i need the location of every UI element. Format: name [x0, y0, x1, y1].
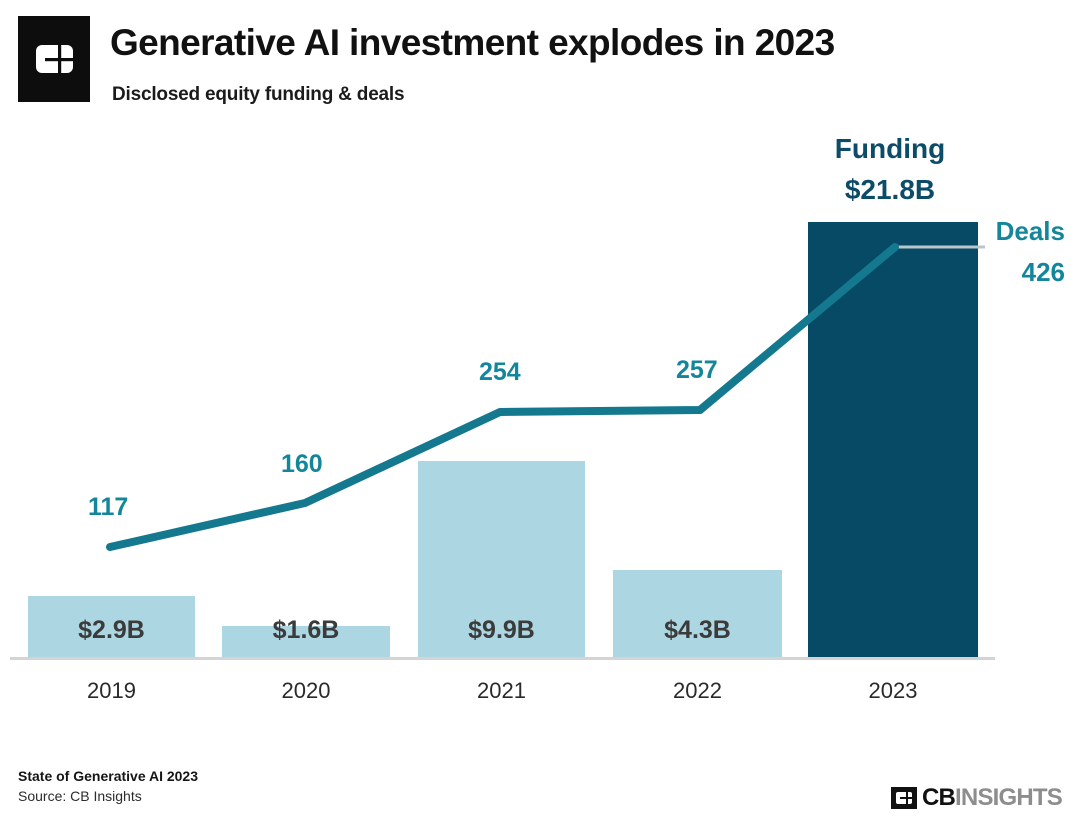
deals-annotation: Deals 426 [900, 211, 1065, 293]
deals-annotation-label: Deals [996, 216, 1065, 246]
bar-label-2021: $9.9B [418, 616, 585, 645]
bar-label-2019: $2.9B [28, 616, 195, 645]
deals-label-2020: 160 [281, 450, 323, 479]
bar-label-2020: $1.6B [222, 616, 390, 645]
x-tick-2019: 2019 [28, 678, 195, 704]
x-tick-2023: 2023 [808, 678, 978, 704]
cb-insights-mark-icon [891, 787, 917, 809]
deals-label-2019: 117 [88, 493, 128, 522]
deals-label-2022: 257 [676, 356, 718, 385]
funding-annotation-value: $21.8B [845, 174, 935, 205]
x-tick-2022: 2022 [613, 678, 782, 704]
footer-source-credit: Source: CB Insights [18, 786, 198, 806]
x-tick-2021: 2021 [418, 678, 585, 704]
deals-label-2021: 254 [479, 358, 521, 387]
footer-report-title: State of Generative AI 2023 [18, 766, 198, 786]
footer-logo-insights: INSIGHTS [955, 784, 1062, 811]
deals-annotation-value: 426 [1022, 257, 1065, 287]
footer-logo: CBINSIGHTS [891, 786, 1062, 810]
footer-logo-text: CBINSIGHTS [922, 786, 1062, 810]
footer-logo-cb: CB [922, 784, 955, 811]
funding-annotation: Funding $21.8B [790, 128, 990, 210]
footer-source-block: State of Generative AI 2023 Source: CB I… [18, 766, 198, 806]
bar-label-2022: $4.3B [613, 616, 782, 645]
x-tick-2020: 2020 [222, 678, 390, 704]
chart-canvas: Generative AI investment explodes in 202… [0, 0, 1080, 822]
funding-annotation-label: Funding [835, 133, 945, 164]
